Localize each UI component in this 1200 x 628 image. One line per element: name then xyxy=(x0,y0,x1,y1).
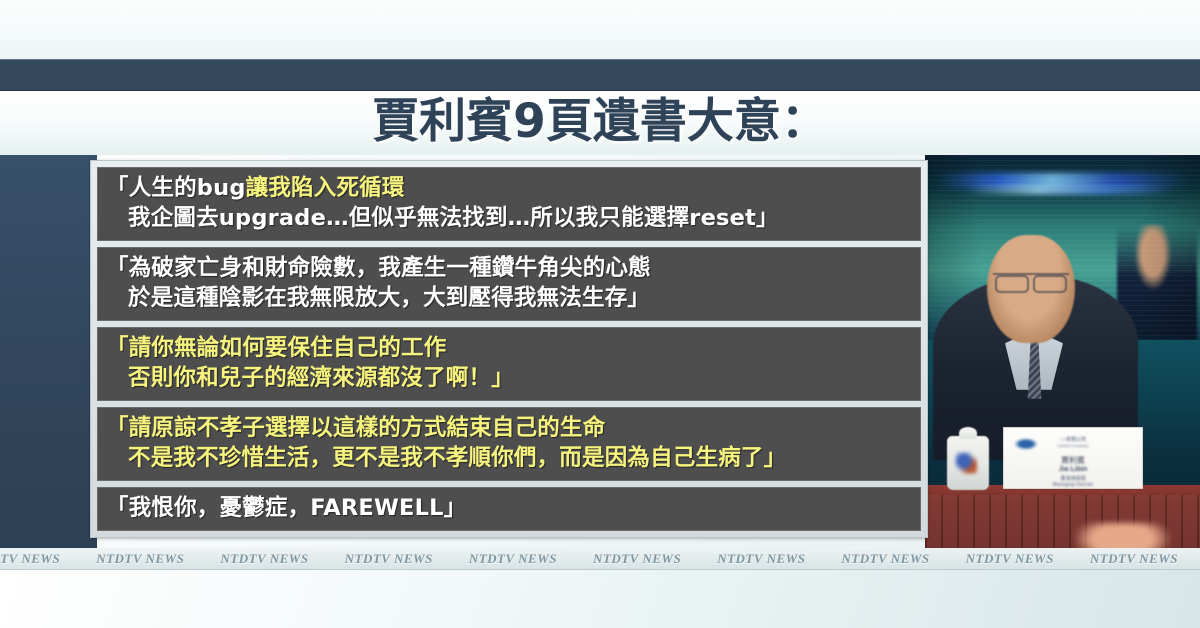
ticker-item: NTDTV NEWS xyxy=(948,551,1072,567)
quote-line: 「請你無論如何要保住自己的工作 xyxy=(106,333,912,363)
news-ticker: NTDTV NEWSNTDTV NEWSNTDTV NEWSNTDTV NEWS… xyxy=(0,548,1200,570)
screen-light-streak-secondary xyxy=(965,185,1175,195)
news-photo: ○○有限公司 Limited Company 賈利賓 Jia Libin 董事總… xyxy=(925,155,1200,548)
foreground-hand xyxy=(1075,523,1170,548)
quote-line: 「我恨你，憂鬱症，FAREWELL」 xyxy=(106,493,912,523)
nameplate: ○○有限公司 Limited Company 賈利賓 Jia Libin 董事總… xyxy=(1003,427,1143,489)
nameplate-title-cn: 董事總經理 xyxy=(1004,475,1142,482)
page-title: 賈利賓9頁遺書大意： xyxy=(0,92,1200,152)
ticker-item: NTDTV NEWS xyxy=(327,551,451,567)
screen-light-streak xyxy=(935,173,1190,189)
ticker-item: NTDTV NEWS xyxy=(202,551,326,567)
quote-box: 「人生的bug讓我陷入死循環我企圖去upgrade…但似乎無法找到…所以我只能選… xyxy=(97,167,921,241)
subject-glasses xyxy=(993,273,1069,287)
tea-cup xyxy=(947,436,989,490)
quote-text-segment: 於是這種陰影在我無限放大，大到壓得我無法生存」 xyxy=(128,285,650,311)
broadcast-graphic: 賈利賓9頁遺書大意： ○○有限公司 Limited Company 賈利賓 Ji… xyxy=(0,0,1200,628)
quote-line: 「為破家亡身和財命險數，我產生一種鑽牛角尖的心態 xyxy=(106,253,912,283)
quote-text-segment: 「我恨你，憂鬱症，FAREWELL」 xyxy=(106,495,466,521)
bottom-background xyxy=(0,570,1200,628)
quote-line: 否則你和兒子的經濟來源都沒了啊！」 xyxy=(106,363,912,393)
ticker-item: NTDTV NEWS xyxy=(1196,551,1200,567)
ticker-item: NTDTV NEWS xyxy=(0,551,78,567)
nameplate-title-en: Managing Director xyxy=(1004,482,1142,488)
ticker-item: NTDTV NEWS xyxy=(78,551,202,567)
nameplate-org-en: Limited Company xyxy=(1004,443,1142,448)
quote-text-segment: 我企圖去upgrade…但似乎無法找到…所以我只能選擇reset」 xyxy=(128,205,779,231)
quote-text-segment: 「人生的bug xyxy=(106,175,246,201)
quote-text-segment: 「為破家亡身和財命險數，我產生一種鑽牛角尖的心態 xyxy=(106,255,651,281)
ticker-item: NTDTV NEWS xyxy=(575,551,699,567)
quote-text-segment: 否則你和兒子的經濟來源都沒了啊！」 xyxy=(128,365,514,391)
quote-box: 「請你無論如何要保住自己的工作否則你和兒子的經濟來源都沒了啊！」 xyxy=(97,327,921,401)
quote-text-segment: 「請原諒不孝子選擇以這樣的方式結束自己的生命 xyxy=(106,415,605,441)
top-background-band xyxy=(0,0,1200,59)
quote-line: 「請原諒不孝子選擇以這樣的方式結束自己的生命 xyxy=(106,413,912,443)
ticker-item: NTDTV NEWS xyxy=(699,551,823,567)
quote-text-segment: 「請你無論如何要保住自己的工作 xyxy=(106,335,447,361)
nameplate-name-en: Jia Libin xyxy=(1004,466,1142,473)
quote-line: 「人生的bug讓我陷入死循環 xyxy=(106,173,912,203)
quote-list: 「人生的bug讓我陷入死循環我企圖去upgrade…但似乎無法找到…所以我只能選… xyxy=(90,160,928,538)
ticker-item: NTDTV NEWS xyxy=(451,551,575,567)
quote-line: 於是這種陰影在我無限放大，大到壓得我無法生存」 xyxy=(106,283,912,313)
quote-text-segment: 不是我不珍惜生活，更不是我不孝順你們，而是因為自己生病了」 xyxy=(128,445,786,471)
quote-box: 「為破家亡身和財命險數，我產生一種鑽牛角尖的心態於是這種陰影在我無限放大，大到壓… xyxy=(97,247,921,321)
nameplate-org-cn: ○○有限公司 xyxy=(1004,436,1142,443)
ticker-item: NTDTV NEWS xyxy=(823,551,947,567)
ticker-item: NTDTV NEWS xyxy=(1072,551,1196,567)
quote-text-segment: 讓我陷入死循環 xyxy=(246,175,405,201)
quote-line: 不是我不珍惜生活，更不是我不孝順你們，而是因為自己生病了」 xyxy=(106,443,912,473)
quote-line: 我企圖去upgrade…但似乎無法找到…所以我只能選擇reset」 xyxy=(106,203,912,233)
quote-box: 「請原諒不孝子選擇以這樣的方式結束自己的生命不是我不珍惜生活，更不是我不孝順你們… xyxy=(97,407,921,481)
nameplate-name-cn: 賈利賓 xyxy=(1004,455,1142,466)
quote-box: 「我恨你，憂鬱症，FAREWELL」 xyxy=(97,487,921,531)
top-navy-bar xyxy=(0,59,1200,91)
left-navy-panel xyxy=(0,155,97,548)
